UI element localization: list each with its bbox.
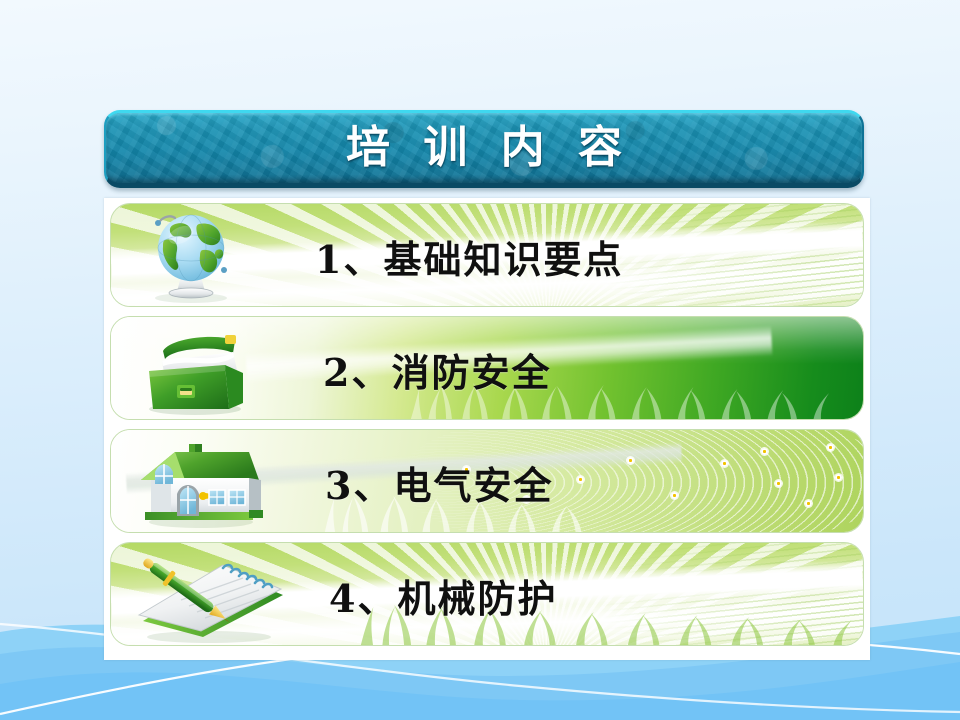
globe-icon <box>129 208 279 306</box>
list-item-label: 3、电气安全 <box>325 430 553 533</box>
notebook-pen-icon <box>119 545 294 645</box>
flower-dot-icon <box>805 500 812 507</box>
flower-dot-icon <box>827 444 834 451</box>
flower-dot-icon <box>577 476 584 483</box>
flower-dot-icon <box>835 474 842 481</box>
slide: 培 训 内 容 <box>0 0 960 720</box>
house-icon <box>129 434 279 532</box>
list-item[interactable]: 3、电气安全 <box>110 429 864 533</box>
flower-dot-icon <box>671 492 678 499</box>
list-item[interactable]: 1、基础知识要点 <box>110 203 864 307</box>
page-title: 培 训 内 容 <box>337 126 631 170</box>
list-item-label: 2、消防安全 <box>323 317 551 420</box>
content-panel: 1、基础知识要点 <box>104 198 870 660</box>
list-item[interactable]: 2、消防安全 <box>110 316 864 420</box>
list-item[interactable]: 4、机械防护 <box>110 542 864 646</box>
flower-dot-icon <box>775 480 782 487</box>
flower-dot-icon <box>761 448 768 455</box>
flower-dot-icon <box>627 457 634 464</box>
briefcase-icon <box>129 321 279 419</box>
flower-dot-icon <box>721 460 728 467</box>
slide-title-banner: 培 训 内 容 <box>104 110 864 188</box>
list-item-label: 1、基础知识要点 <box>315 204 623 307</box>
list-item-label: 4、机械防护 <box>329 543 557 646</box>
